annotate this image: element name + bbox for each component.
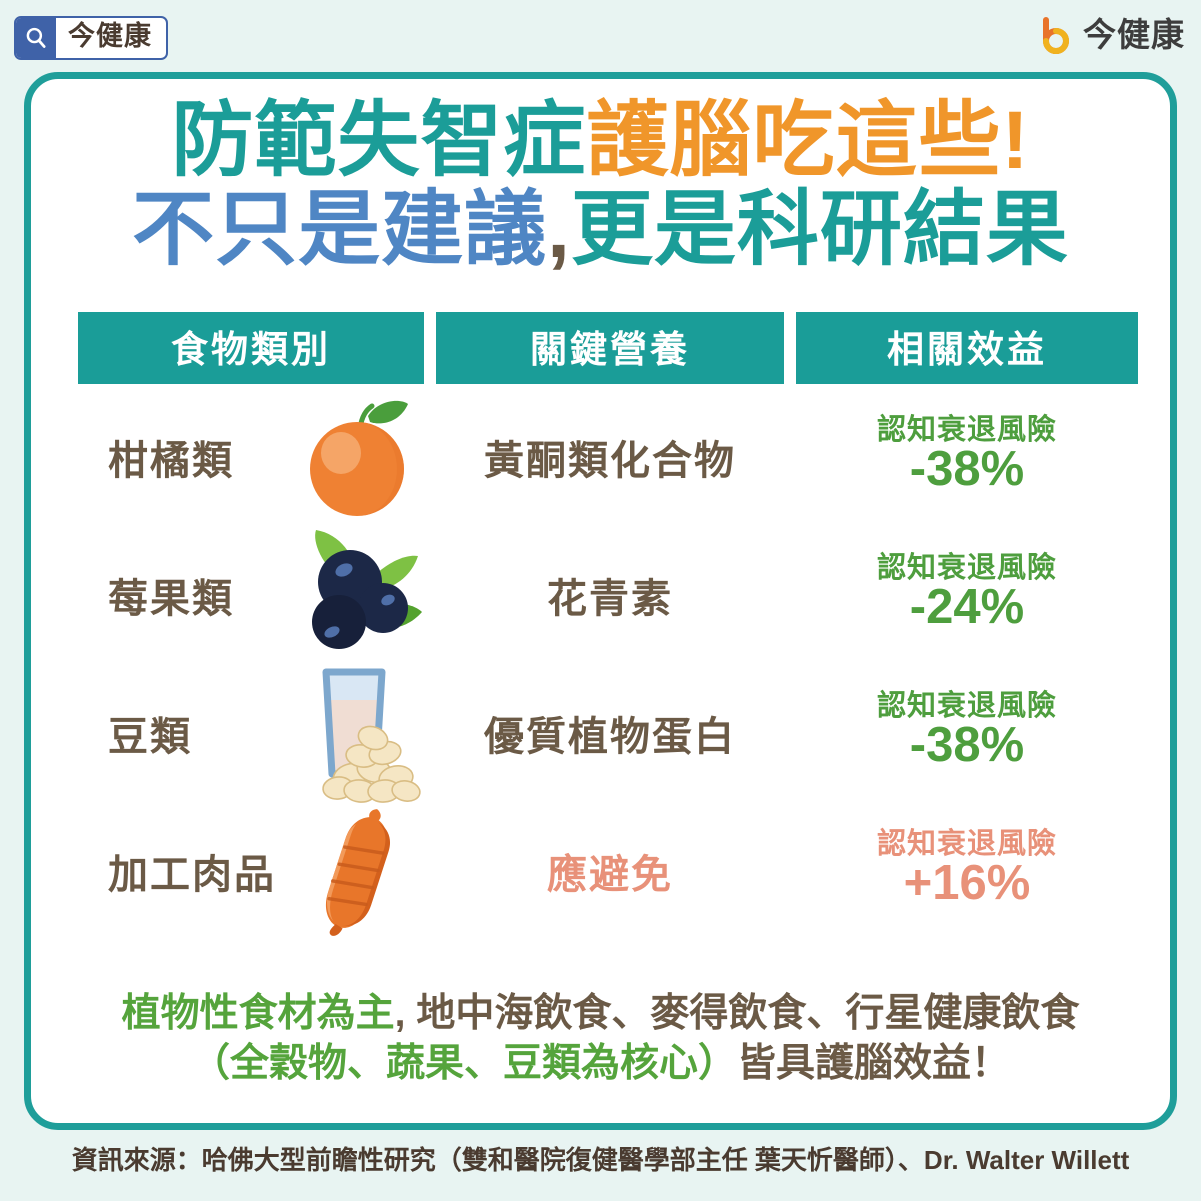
benefit-label: 認知衰退風險	[877, 829, 1057, 859]
benefit-cell: 認知衰退風險 +16%	[796, 806, 1138, 936]
nutrient-label: 應避免	[547, 842, 673, 900]
summary-line1-brown: , 地中海飲食、麥得飲食、行星健康飲食	[395, 992, 1080, 1035]
summary-line2-brown: 皆具護腦效益！	[737, 1042, 1010, 1085]
benefit-value: -24%	[877, 582, 1057, 633]
summary-line1-green: 植物性食材為主	[122, 992, 395, 1035]
summary-text: 植物性食材為主, 地中海飲食、麥得飲食、行星健康飲食 （全穀物、蔬果、豆類為核心…	[31, 989, 1170, 1089]
title-line2-blue: 不只是建議	[132, 184, 547, 275]
nutrient-label: 花青素	[547, 566, 673, 624]
benefit-block: 認知衰退風險 +16%	[877, 829, 1057, 914]
benefit-block: 認知衰退風險 -24%	[877, 553, 1057, 638]
sausage-icon	[282, 796, 432, 946]
table-row: 豆類	[78, 668, 1138, 798]
food-label: 豆類	[108, 704, 192, 762]
table-header-row: 食物類別 關鍵營養 相關效益	[78, 312, 1138, 384]
benefit-cell: 認知衰退風險 -38%	[796, 668, 1138, 798]
title-line2-comma: ,	[547, 184, 571, 275]
brand-name: 今健康	[1083, 18, 1185, 55]
nutrient-label: 優質植物蛋白	[484, 704, 736, 762]
summary-line-1: 植物性食材為主, 地中海飲食、麥得飲食、行星健康飲食	[31, 989, 1170, 1039]
search-badge-label: 今健康	[56, 18, 166, 58]
title-line-1: 防範失智症護腦吃這些!	[31, 97, 1170, 186]
title-line1-teal: 防範失智症	[171, 95, 586, 186]
benefit-value: +16%	[877, 858, 1057, 909]
benefit-label: 認知衰退風險	[877, 553, 1057, 583]
benefit-block: 認知衰退風險 -38%	[877, 415, 1057, 500]
orange-fruit-icon	[282, 382, 432, 532]
nutrient-cell: 黃酮類化合物	[436, 392, 784, 522]
food-cell: 加工肉品	[78, 806, 424, 936]
benefit-value: -38%	[877, 444, 1057, 495]
summary-line-2: （全穀物、蔬果、豆類為核心）皆具護腦效益！	[31, 1039, 1170, 1089]
search-icon	[16, 18, 56, 58]
table-row: 莓果類 花青素	[78, 530, 1138, 660]
benefit-label: 認知衰退風險	[877, 691, 1057, 721]
title-line1-orange: 護腦吃這些!	[586, 95, 1029, 186]
benefit-cell: 認知衰退風險 -38%	[796, 392, 1138, 522]
benefit-value: -38%	[877, 720, 1057, 771]
food-label: 莓果類	[108, 566, 234, 624]
title-line2-teal: 更是科研結果	[571, 184, 1069, 275]
food-label: 柑橘類	[108, 428, 234, 486]
search-badge[interactable]: 今健康	[14, 16, 168, 60]
food-cell: 柑橘類	[78, 392, 424, 522]
title-line-2: 不只是建議,更是科研結果	[31, 186, 1170, 275]
page-title: 防範失智症護腦吃這些! 不只是建議,更是科研結果	[31, 97, 1170, 274]
nutrient-cell: 花青素	[436, 530, 784, 660]
nutrient-cell: 應避免	[436, 806, 784, 936]
b-logo-icon	[1033, 14, 1077, 58]
nutrient-cell: 優質植物蛋白	[436, 668, 784, 798]
top-bar: 今健康 今健康	[0, 0, 1201, 76]
summary-line2-green: （全穀物、蔬果、豆類為核心）	[191, 1042, 737, 1085]
source-footer: 資訊來源：哈佛大型前瞻性研究（雙和醫院復健醫學部主任 葉天忻醫師）、Dr. Wa…	[0, 1140, 1201, 1177]
column-header-nutrient: 關鍵營養	[436, 312, 784, 384]
benefit-cell: 認知衰退風險 -24%	[796, 530, 1138, 660]
blueberry-icon	[282, 520, 432, 670]
table-row: 柑橘類 黃酮類化合物 認知衰退風險 -38%	[78, 392, 1138, 522]
food-label: 加工肉品	[108, 842, 276, 900]
infographic-card: 防範失智症護腦吃這些! 不只是建議,更是科研結果 食物類別 關鍵營養 相關效益 …	[24, 72, 1177, 1130]
brand-logo: 今健康	[1033, 14, 1185, 58]
soymilk-beans-icon	[282, 658, 432, 808]
nutrient-label: 黃酮類化合物	[484, 428, 736, 486]
table-row: 加工肉品	[78, 806, 1138, 936]
column-header-benefit: 相關效益	[796, 312, 1138, 384]
food-cell: 莓果類	[78, 530, 424, 660]
nutrition-table: 食物類別 關鍵營養 相關效益 柑橘類 黃酮類化合物	[78, 312, 1138, 944]
benefit-label: 認知衰退風險	[877, 415, 1057, 445]
column-header-food: 食物類別	[78, 312, 424, 384]
food-cell: 豆類	[78, 668, 424, 798]
benefit-block: 認知衰退風險 -38%	[877, 691, 1057, 776]
